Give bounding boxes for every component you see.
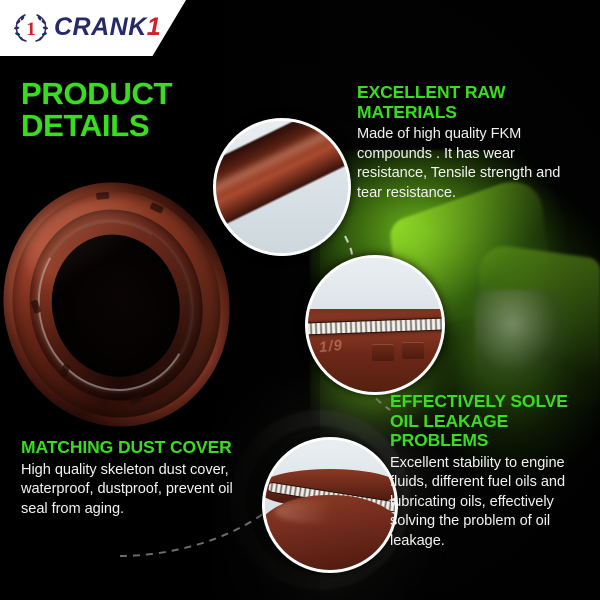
callout-raw-material-closeup xyxy=(213,118,351,256)
feature-body: High quality skeleton dust cover, waterp… xyxy=(21,461,241,520)
feature-heading: EXCELLENT RAW MATERIALS xyxy=(357,83,585,122)
seal-molded-tab xyxy=(402,342,424,359)
brand-accent-text: 1 xyxy=(147,13,161,41)
brand-name-text: CRANK xyxy=(54,13,147,41)
seal-highlight xyxy=(275,500,356,523)
brand-logo[interactable]: 1 CRANK1 xyxy=(12,10,161,44)
feature-body: Made of high quality FKM compounds . It … xyxy=(357,125,585,203)
laurel-wreath-number-one-icon: 1 xyxy=(12,10,50,44)
page-title: PRODUCT DETAILS xyxy=(21,78,172,142)
feature-raw-materials: EXCELLENT RAW MATERIALS Made of high qua… xyxy=(357,83,585,203)
svg-text:1: 1 xyxy=(26,19,36,40)
seal-molded-tab xyxy=(372,344,394,361)
product-details-poster: 1 CRANK1 PRODUCT DETAILS xyxy=(0,0,600,600)
page-title-line-1: PRODUCT xyxy=(21,78,172,110)
feature-body: Excellent stability to engine fluids, di… xyxy=(390,454,590,552)
page-title-line-2: DETAILS xyxy=(21,110,172,142)
callout-garter-spring-closeup: 1/9 xyxy=(305,255,445,395)
feature-dust-cover: MATCHING DUST COVER High quality skeleto… xyxy=(21,438,241,519)
brand-wordmark: CRANK1 xyxy=(54,13,161,42)
callout-dust-lip-closeup xyxy=(262,437,398,573)
seal-notch xyxy=(96,192,110,200)
feature-heading: MATCHING DUST COVER xyxy=(21,438,241,458)
seal-stamp-mark: 1/9 xyxy=(318,337,344,356)
feature-heading: EFFECTIVELY SOLVE OIL LEAKAGE PROBLEMS xyxy=(390,392,590,451)
feature-oil-leakage: EFFECTIVELY SOLVE OIL LEAKAGE PROBLEMS E… xyxy=(390,392,590,552)
